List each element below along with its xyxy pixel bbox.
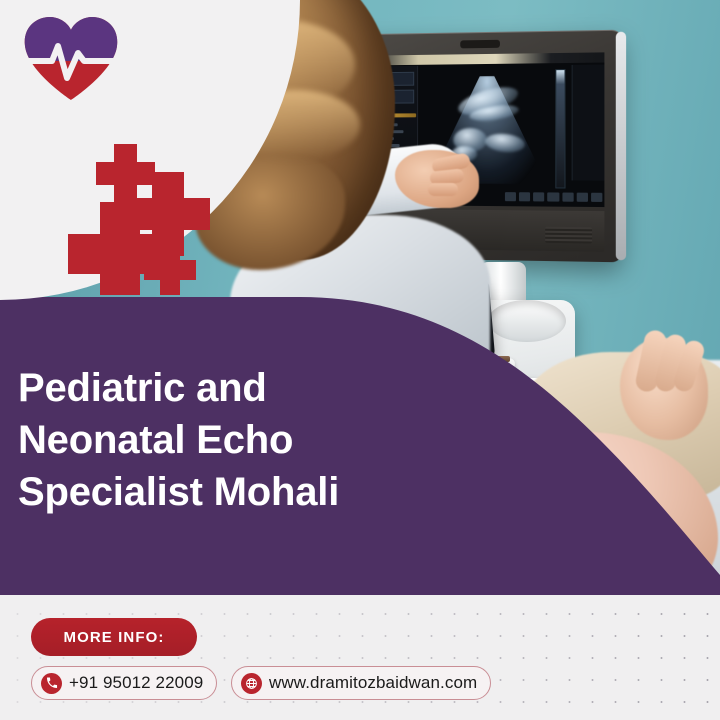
medical-cross-cluster: [62, 130, 242, 295]
monitor-right-edge: [616, 32, 626, 261]
console-gel-basin: [488, 300, 566, 342]
globe-icon: [241, 673, 262, 694]
ultrasound-toolbar: [505, 192, 602, 202]
contact-phone-pill[interactable]: +91 95012 22009: [31, 666, 217, 700]
title-line-2: Neonatal Echo: [18, 414, 438, 466]
page-title: Pediatric and Neonatal Echo Specialist M…: [18, 362, 438, 518]
ultrasound-menu-bar: [368, 52, 605, 65]
monitor-camera-strip: [460, 40, 500, 49]
footer-bar: [0, 595, 720, 720]
ultrasound-depth-scale: [555, 69, 565, 188]
title-line-1: Pediatric and: [18, 362, 438, 414]
contact-website-pill[interactable]: www.dramitozbaidwan.com: [231, 666, 491, 700]
heart-pulse-logo: [22, 16, 120, 100]
ultrasound-right-panel: [572, 65, 605, 181]
website-url-text: www.dramitozbaidwan.com: [269, 673, 477, 693]
phone-icon: [41, 673, 62, 694]
more-info-button[interactable]: MORE INFO:: [31, 618, 197, 656]
monitor-speaker-vent: [545, 227, 592, 244]
footer-dot-pattern: [0, 595, 720, 720]
phone-number-text: +91 95012 22009: [69, 673, 203, 693]
cross-small-top: [96, 144, 155, 203]
title-line-3: Specialist Mohali: [18, 466, 438, 518]
poster-canvas: Pediatric and Neonatal Echo Specialist M…: [0, 0, 720, 720]
